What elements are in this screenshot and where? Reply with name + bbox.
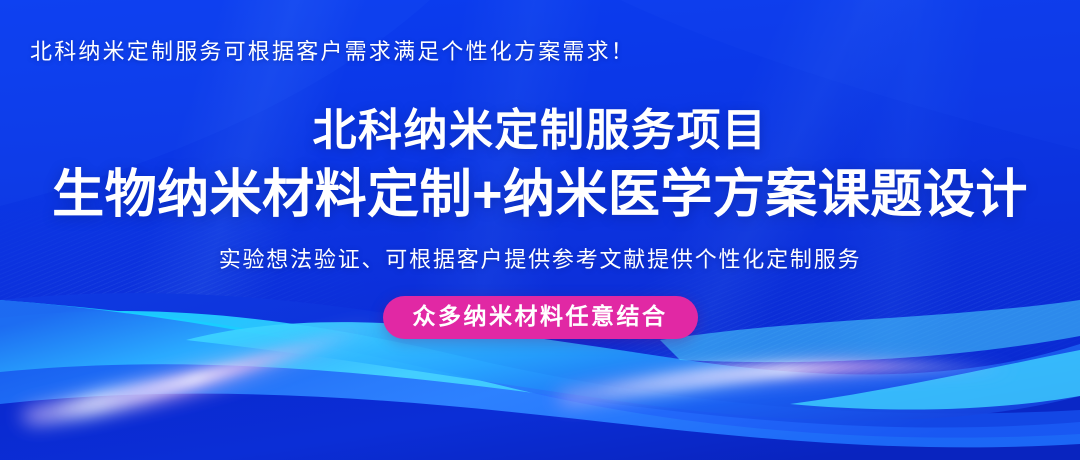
banner-title-line-1: 北科纳米定制服务项目 <box>0 104 1080 158</box>
promo-banner: 北科纳米定制服务可根据客户需求满足个性化方案需求！ 北科纳米定制服务项目 生物纳… <box>0 0 1080 460</box>
banner-content: 北科纳米定制服务可根据客户需求满足个性化方案需求！ 北科纳米定制服务项目 生物纳… <box>0 0 1080 460</box>
banner-subtitle: 实验想法验证、可根据客户提供参考文献提供个性化定制服务 <box>0 245 1080 275</box>
banner-badge-row: 众多纳米材料任意结合 <box>0 296 1080 339</box>
highlight-badge[interactable]: 众多纳米材料任意结合 <box>383 296 698 339</box>
banner-title-line-2: 生物纳米材料定制+纳米医学方案课题设计 <box>0 164 1080 226</box>
banner-title-block: 北科纳米定制服务项目 生物纳米材料定制+纳米医学方案课题设计 <box>0 104 1080 226</box>
banner-kicker-text: 北科纳米定制服务可根据客户需求满足个性化方案需求！ <box>30 38 635 66</box>
